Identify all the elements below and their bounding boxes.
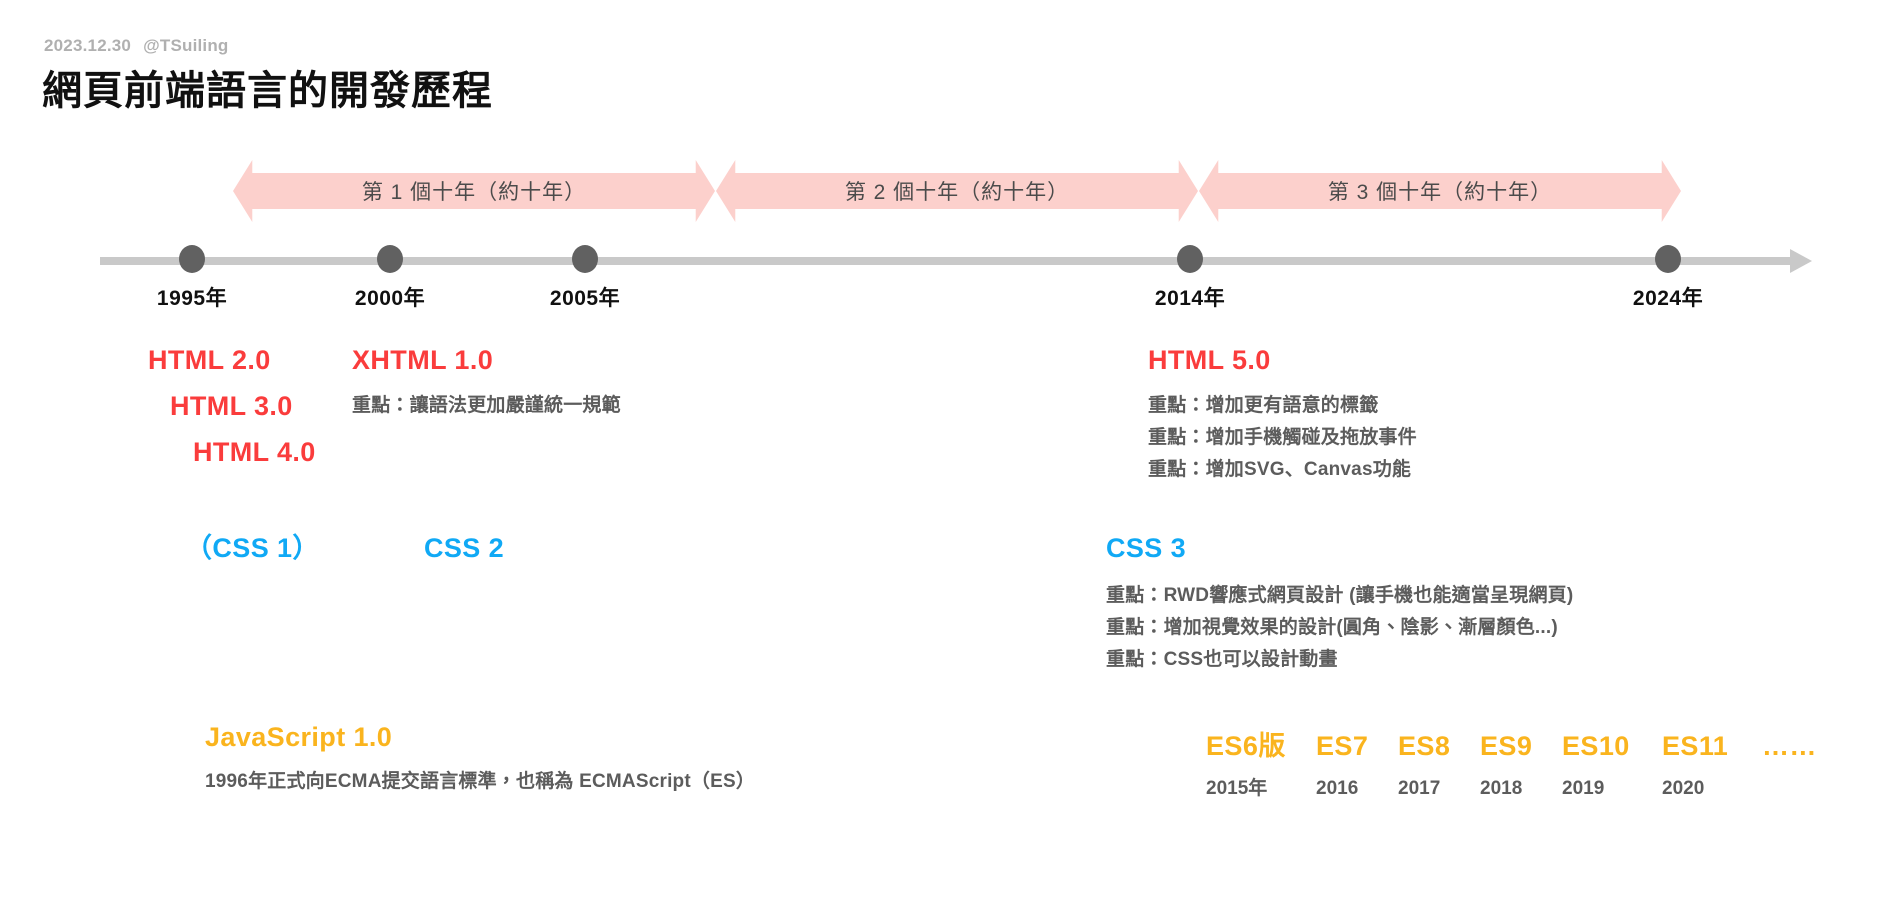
es-year-label: 2018: [1480, 778, 1562, 800]
es-version-label: ES11: [1662, 731, 1762, 762]
byline-handle: @TSuiling: [143, 36, 228, 55]
timeline-dot: [179, 245, 205, 273]
es-version-label: ES8: [1398, 731, 1480, 762]
es-version-label: ES10: [1562, 731, 1662, 762]
timeline-dot: [1177, 245, 1203, 273]
javascript-block: JavaScript 1.0 1996年正式向ECMA提交語言標準，也稱為 EC…: [205, 724, 755, 798]
page-title: 網頁前端語言的開發歷程: [42, 58, 493, 116]
html5-title: HTML 5.0: [1148, 347, 1417, 374]
css3-title: CSS 3: [1106, 535, 1573, 562]
css1-block: （CSS 1）: [185, 535, 320, 562]
es-version-label: ES7: [1316, 731, 1398, 762]
es-version-label: ……: [1762, 731, 1817, 762]
es-version-list: ES6版ES7ES8ES9ES10ES11……: [1206, 724, 1817, 763]
byline: 2023.12.30@TSuiling: [44, 36, 229, 56]
timeline-year-label: 2000年: [355, 282, 425, 312]
html-version-row: HTML 3.0: [148, 393, 316, 420]
javascript-title: JavaScript 1.0: [205, 724, 755, 751]
timeline-year-label: 2014年: [1155, 282, 1225, 312]
timeline-year-label: 2024年: [1633, 282, 1703, 312]
html5-note: 重點：增加更有語意的標籤: [1148, 390, 1417, 422]
css1-title: （CSS 1）: [185, 535, 320, 562]
es-versions-block: ES6版ES7ES8ES9ES10ES11…… 2015年20162017201…: [1206, 724, 1817, 800]
css3-note: 重點：增加視覺效果的設計(圓角、陰影、漸層顏色...): [1106, 612, 1573, 644]
timeline-dot: [572, 245, 598, 273]
html-version-row: HTML 2.0: [148, 347, 316, 374]
xhtml-note: 重點：讓語法更加嚴謹統一規範: [352, 390, 621, 422]
decade-arrow-2: 第 2 個十年（約十年）: [716, 160, 1198, 222]
decade-band: 第 1 個十年（約十年） 第 2 個十年（約十年） 第 3 個十年（約十年）: [0, 160, 1900, 226]
css3-note: 重點：RWD響應式網頁設計 (讓手機也能適當呈現網頁): [1106, 580, 1573, 612]
html5-block: HTML 5.0 重點：增加更有語意的標籤 重點：增加手機觸碰及拖放事件 重點：…: [1148, 347, 1417, 486]
html5-note: 重點：增加手機觸碰及拖放事件: [1148, 422, 1417, 454]
decade-arrow-1-label: 第 1 個十年（約十年）: [362, 176, 586, 206]
html-early-versions-block: HTML 2.0 HTML 3.0 HTML 4.0: [148, 347, 316, 485]
es-year-label: 2015年: [1206, 773, 1316, 800]
timeline-arrow-icon: [1790, 249, 1812, 273]
es-year-label: 2016: [1316, 778, 1398, 800]
html-version-row: HTML 4.0: [148, 439, 316, 466]
es-year-list: 2015年20162017201820192020: [1206, 773, 1817, 800]
es-version-label: ES9: [1480, 731, 1562, 762]
es-version-label: ES6版: [1206, 724, 1316, 763]
decade-arrow-3-label: 第 3 個十年（約十年）: [1328, 176, 1552, 206]
decade-arrow-3: 第 3 個十年（約十年）: [1199, 160, 1681, 222]
css3-note: 重點：CSS也可以設計動畫: [1106, 644, 1573, 676]
html-2-label: HTML 2.0: [148, 345, 271, 375]
xhtml-title: XHTML 1.0: [352, 347, 621, 374]
html-4-label: HTML 4.0: [193, 437, 316, 467]
es-year-label: 2019: [1562, 778, 1662, 800]
xhtml-block: XHTML 1.0 重點：讓語法更加嚴謹統一規範: [352, 347, 621, 422]
css3-block: CSS 3 重點：RWD響應式網頁設計 (讓手機也能適當呈現網頁) 重點：增加視…: [1106, 535, 1573, 676]
byline-date: 2023.12.30: [44, 36, 131, 55]
es-year-label: 2020: [1662, 778, 1762, 800]
decade-arrow-1: 第 1 個十年（約十年）: [233, 160, 715, 222]
timeline-dot: [1655, 245, 1681, 273]
timeline-axis-line: [100, 257, 1792, 265]
css2-title: CSS 2: [424, 535, 504, 562]
timeline-year-label: 2005年: [550, 282, 620, 312]
timeline-year-label: 1995年: [157, 282, 227, 312]
es-year-label: 2017: [1398, 778, 1480, 800]
javascript-note: 1996年正式向ECMA提交語言標準，也稱為 ECMAScript（ES）: [205, 766, 755, 798]
decade-arrow-2-label: 第 2 個十年（約十年）: [845, 176, 1069, 206]
html-3-label: HTML 3.0: [170, 391, 293, 421]
timeline-dot: [377, 245, 403, 273]
html5-note: 重點：增加SVG、Canvas功能: [1148, 454, 1417, 486]
css2-block: CSS 2: [424, 535, 504, 562]
